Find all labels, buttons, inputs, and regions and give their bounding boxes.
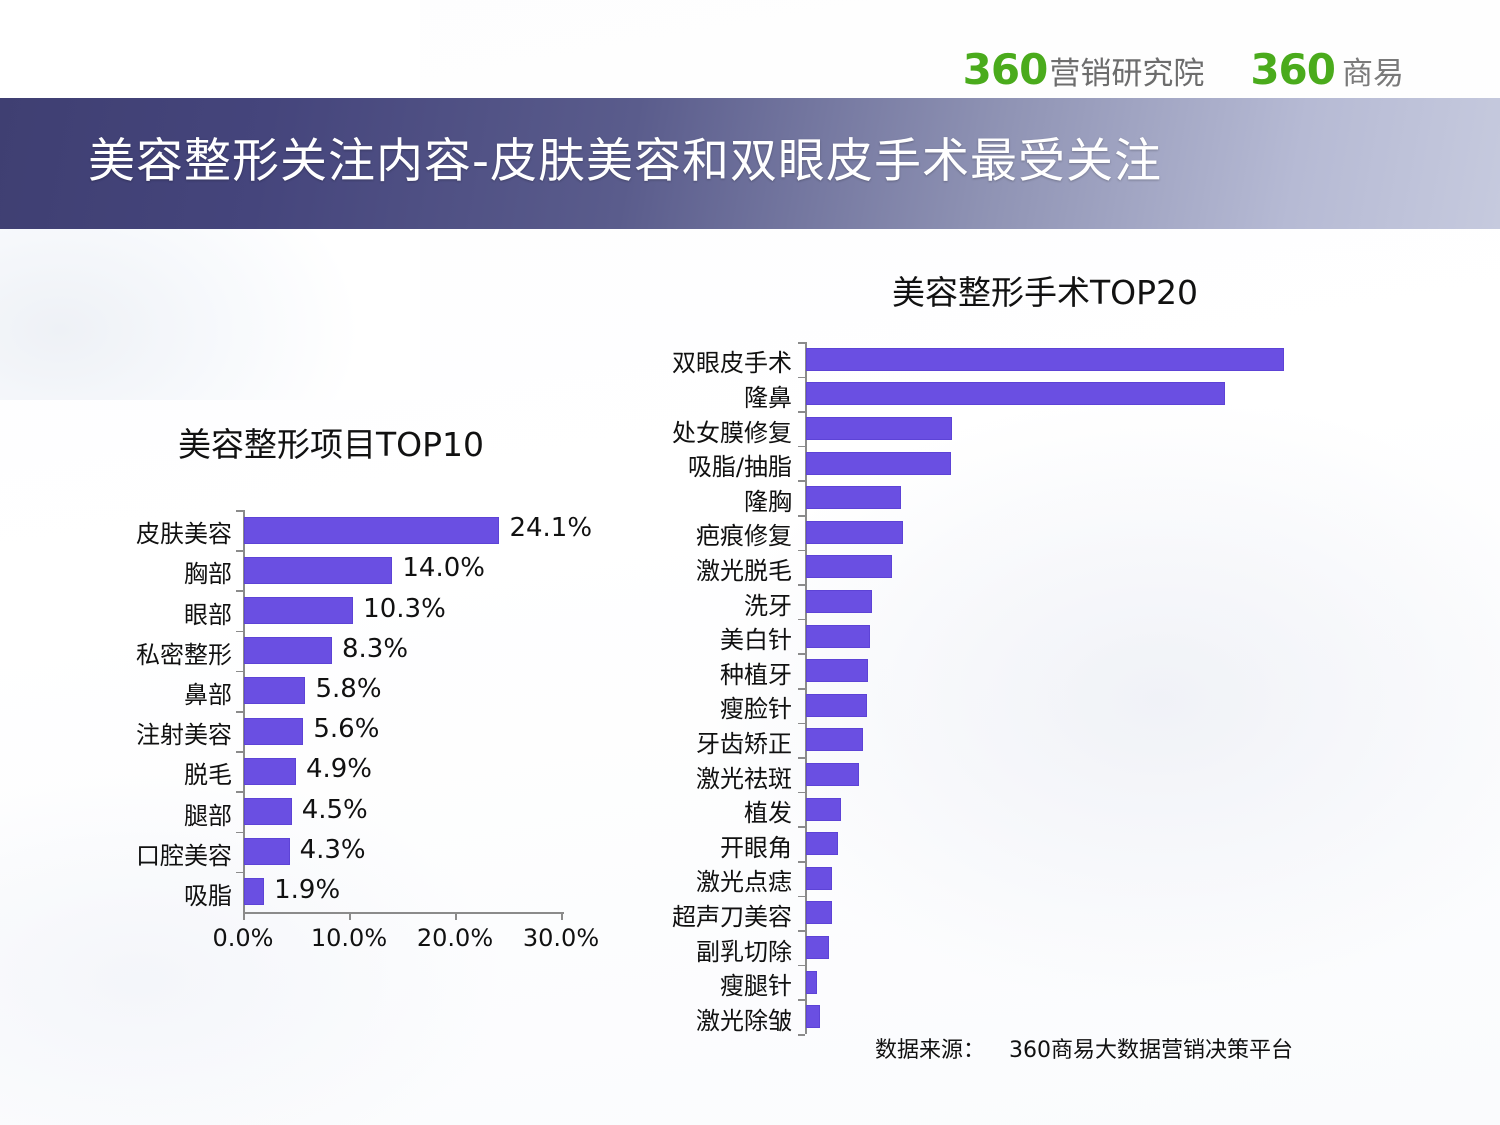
right-chart-y-tick [798, 861, 805, 863]
left-chart-bar [244, 758, 296, 785]
logo-360-marketing-institute: 360 营销研究院 [963, 45, 1205, 94]
left-chart-bar [244, 878, 264, 905]
left-chart-value-label: 1.9% [274, 875, 340, 905]
right-chart-category-label: 激光祛斑 [627, 759, 792, 794]
left-chart-x-tick-label: 10.0% [294, 924, 404, 952]
left-chart-y-tick [236, 872, 243, 874]
right-chart-y-tick [798, 826, 805, 828]
left-chart-bar [244, 798, 292, 825]
left-chart-y-tick [236, 671, 243, 673]
left-chart-value-label: 14.0% [402, 553, 485, 583]
right-chart-y-tick [798, 757, 805, 759]
right-chart-bar [806, 555, 892, 578]
right-chart-bar [806, 694, 867, 717]
left-chart-x-axis [243, 912, 564, 914]
right-chart-y-tick [798, 965, 805, 967]
right-chart-category-label: 洗牙 [627, 586, 792, 621]
right-chart-category-label: 疤痕修复 [627, 516, 792, 551]
left-chart-category-label: 皮肤美容 [92, 514, 232, 549]
left-chart-category-label: 脱毛 [92, 755, 232, 790]
right-chart-y-tick [798, 446, 805, 448]
right-chart-category-label: 美白针 [627, 620, 792, 655]
right-chart-category-label: 双眼皮手术 [627, 343, 792, 378]
chart-top20-beauty-surgeries: 美容整形手术TOP20 双眼皮手术隆鼻处女膜修复吸脂/抽脂隆胸疤痕修复激光脱毛洗… [630, 262, 1330, 1052]
left-chart-bar [244, 517, 499, 544]
left-chart-bar [244, 637, 332, 664]
left-chart-y-tick [236, 832, 243, 834]
logo-360-number: 360 [963, 45, 1048, 94]
logo-shangyi-number: 360 [1250, 45, 1335, 94]
left-chart-x-tick [455, 912, 457, 920]
right-chart-bar [806, 798, 841, 821]
left-chart-y-tick [236, 751, 243, 753]
left-chart-value-label: 5.8% [315, 674, 381, 704]
right-chart-y-tick [798, 792, 805, 794]
right-chart-bar [806, 867, 832, 890]
right-chart-bar [806, 521, 903, 544]
left-chart-x-tick-label: 30.0% [506, 924, 616, 952]
left-chart-category-label: 私密整形 [92, 635, 232, 670]
right-chart-bar [806, 832, 838, 855]
left-chart-y-tick [236, 631, 243, 633]
right-chart-y-tick [798, 930, 805, 932]
right-chart-y-tick [798, 653, 805, 655]
right-chart-bar [806, 382, 1225, 405]
right-chart-y-axis [805, 342, 807, 1034]
right-chart-category-label: 副乳切除 [627, 932, 792, 967]
right-chart-bar [806, 901, 832, 924]
right-chart-category-label: 吸脂/抽脂 [627, 447, 792, 482]
right-chart-category-label: 瘦脸针 [627, 689, 792, 724]
right-chart-bar [806, 936, 829, 959]
left-chart-category-label: 胸部 [92, 554, 232, 589]
right-chart-y-tick [798, 619, 805, 621]
left-chart-value-label: 8.3% [342, 634, 408, 664]
right-chart-bar [806, 625, 870, 648]
right-chart-category-label: 隆鼻 [627, 378, 792, 413]
right-chart-category-label: 激光脱毛 [627, 551, 792, 586]
left-chart-bar [244, 838, 290, 865]
right-chart-category-label: 开眼角 [627, 828, 792, 863]
left-chart-y-tick [236, 550, 243, 552]
left-chart-x-tick [561, 912, 563, 920]
left-chart-category-label: 吸脂 [92, 876, 232, 911]
left-chart-y-tick [236, 510, 243, 512]
logo-360-shangyi: 360 商易 [1250, 45, 1404, 94]
logo-row: 360 营销研究院 360 商易 [963, 45, 1404, 94]
right-chart-category-label: 超声刀美容 [627, 897, 792, 932]
right-chart-y-tick-end [798, 1034, 805, 1036]
left-chart-y-tick [236, 791, 243, 793]
right-chart-bar [806, 763, 859, 786]
left-chart-x-tick [243, 912, 245, 920]
right-chart-y-tick [798, 377, 805, 379]
left-chart-value-label: 4.5% [302, 795, 368, 825]
page-title: 美容整形关注内容-皮肤美容和双眼皮手术最受关注 [88, 122, 1162, 191]
left-chart-bar [244, 557, 392, 584]
left-chart-bar [244, 718, 303, 745]
left-chart-value-label: 4.9% [306, 754, 372, 784]
logo-shangyi-suffix: 商易 [1342, 48, 1404, 93]
right-chart-y-tick [798, 723, 805, 725]
chart-left-title: 美容整形项目TOP10 [178, 418, 484, 466]
left-chart-category-label: 注射美容 [92, 715, 232, 750]
left-chart-value-label: 10.3% [363, 594, 446, 624]
right-chart-category-label: 激光点痣 [627, 862, 792, 897]
right-chart-category-label: 隆胸 [627, 482, 792, 517]
right-chart-category-label: 激光除皱 [627, 1001, 792, 1036]
right-chart-y-tick [798, 999, 805, 1001]
right-chart-category-label: 种植牙 [627, 655, 792, 690]
left-chart-category-label: 口腔美容 [92, 836, 232, 871]
right-chart-y-tick [798, 480, 805, 482]
right-chart-bar [806, 659, 868, 682]
data-source-label: 数据来源： [875, 1038, 985, 1063]
left-chart-category-label: 眼部 [92, 595, 232, 630]
chart-right-title: 美容整形手术TOP20 [892, 266, 1198, 314]
left-chart-y-tick [236, 590, 243, 592]
left-chart-value-label: 5.6% [313, 714, 379, 744]
right-chart-bar [806, 971, 817, 994]
data-source-note: 数据来源：360商易大数据营销决策平台 [875, 1032, 1293, 1064]
slide-root: 360 营销研究院 360 商易 美容整形关注内容-皮肤美容和双眼皮手术最受关注… [0, 0, 1500, 1125]
left-chart-x-tick-label: 20.0% [400, 924, 510, 952]
left-chart-value-label: 24.1% [509, 513, 592, 543]
left-chart-y-tick [236, 711, 243, 713]
right-chart-y-tick [798, 550, 805, 552]
left-chart-category-label: 鼻部 [92, 675, 232, 710]
chart-top10-beauty-projects: 美容整形项目TOP10 皮肤美容24.1%胸部14.0%眼部10.3%私密整形8… [110, 410, 630, 970]
right-chart-category-label: 牙齿矫正 [627, 724, 792, 759]
data-source-value: 360商易大数据营销决策平台 [1009, 1038, 1293, 1063]
right-chart-y-tick [798, 342, 805, 344]
right-chart-bar [806, 417, 952, 440]
right-chart-y-tick [798, 515, 805, 517]
right-chart-bar [806, 728, 863, 751]
left-chart-bar [244, 677, 305, 704]
right-chart-category-label: 处女膜修复 [627, 413, 792, 448]
right-chart-y-tick [798, 411, 805, 413]
right-chart-bar [806, 1005, 820, 1028]
right-chart-y-tick [798, 584, 805, 586]
right-chart-bar [806, 590, 872, 613]
right-chart-y-tick [798, 688, 805, 690]
right-chart-y-tick [798, 896, 805, 898]
left-chart-x-tick-label: 0.0% [188, 924, 298, 952]
left-chart-value-label: 4.3% [300, 835, 366, 865]
right-chart-bar [806, 486, 901, 509]
left-chart-x-tick [349, 912, 351, 920]
right-chart-bar [806, 348, 1284, 371]
right-chart-bar [806, 452, 951, 475]
right-chart-category-label: 植发 [627, 793, 792, 828]
right-chart-category-label: 瘦腿针 [627, 966, 792, 1001]
left-chart-bar [244, 597, 353, 624]
left-chart-category-label: 腿部 [92, 796, 232, 831]
logo-360-suffix: 营销研究院 [1049, 48, 1204, 93]
